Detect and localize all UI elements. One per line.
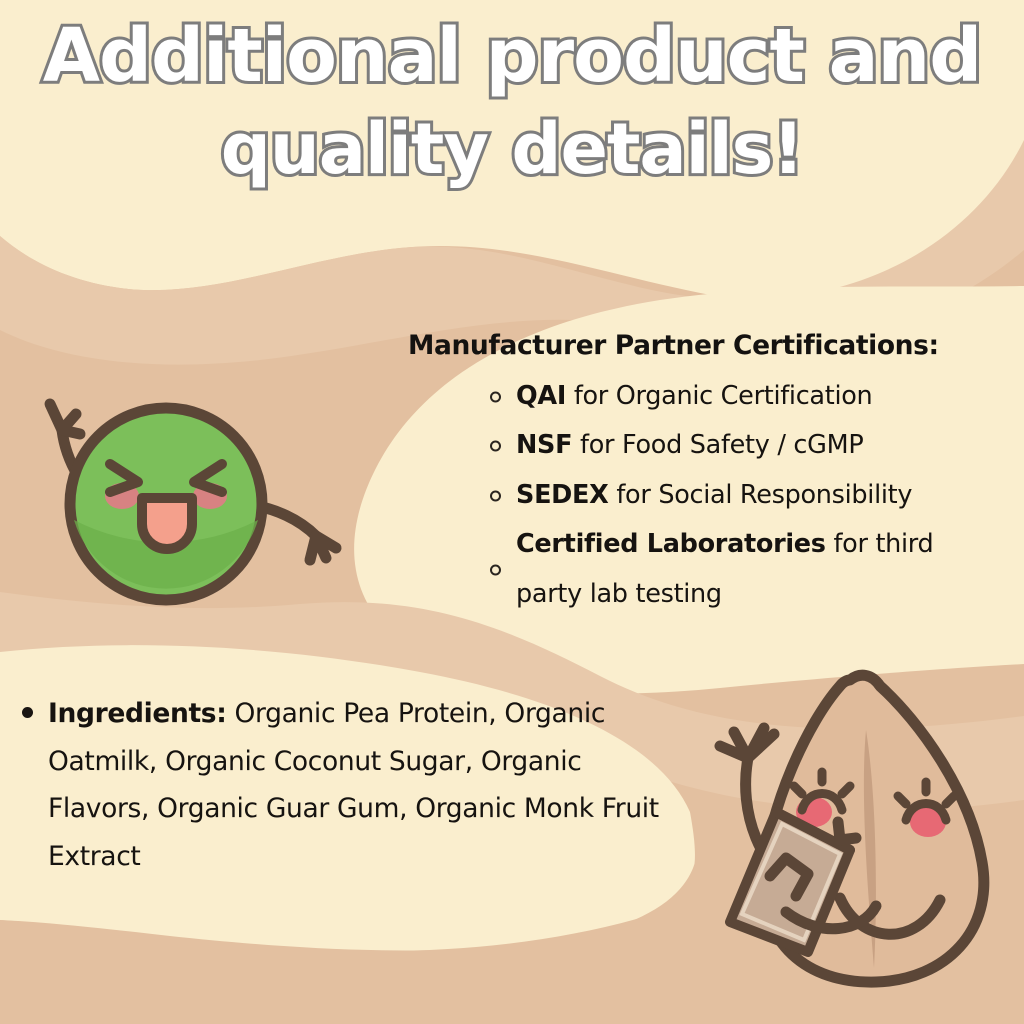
almond-left-hand bbox=[720, 728, 774, 758]
pea-left-hand bbox=[50, 404, 80, 434]
filled-disc-icon bbox=[22, 707, 33, 718]
certifications-block: Manufacturer Partner Certifications: QAI… bbox=[404, 330, 1004, 619]
ingredients-paragraph: Ingredients: Organic Pea Protein, Organi… bbox=[22, 690, 662, 881]
almond-mascot bbox=[690, 662, 1020, 1012]
hollow-circle-icon bbox=[490, 441, 501, 452]
cert-name: NSF bbox=[516, 430, 572, 460]
cert-name: Certified Laboratories bbox=[516, 529, 826, 559]
ingredients-block: Ingredients: Organic Pea Protein, Organi… bbox=[22, 690, 662, 881]
pea-right-hand bbox=[310, 536, 336, 560]
cert-name: QAI bbox=[516, 381, 566, 411]
certifications-list: QAI for Organic Certification NSF for Fo… bbox=[404, 372, 1004, 619]
list-item: Certified Laboratories for third party l… bbox=[404, 520, 1004, 619]
list-item: NSF for Food Safety / cGMP bbox=[404, 421, 1004, 470]
cert-desc: for Social Responsibility bbox=[609, 480, 913, 510]
certifications-heading: Manufacturer Partner Certifications: bbox=[408, 330, 1004, 361]
cert-name: SEDEX bbox=[516, 480, 609, 510]
pea-mouth bbox=[142, 498, 192, 549]
ingredients-label: Ingredients: bbox=[48, 698, 226, 729]
hollow-circle-icon bbox=[490, 391, 501, 402]
pea-mascot bbox=[14, 352, 354, 612]
cert-desc: for Organic Certification bbox=[566, 381, 872, 411]
cert-desc: for third bbox=[826, 529, 934, 559]
list-item: SEDEX for Social Responsibility bbox=[404, 471, 1004, 520]
hollow-circle-icon bbox=[490, 564, 501, 575]
poster-canvas: Additional product and quality details! bbox=[0, 0, 1024, 1024]
cert-desc-continuation: party lab testing bbox=[516, 570, 1004, 619]
cert-desc: for Food Safety / cGMP bbox=[572, 430, 863, 460]
hollow-circle-icon bbox=[490, 490, 501, 501]
list-item: QAI for Organic Certification bbox=[404, 372, 1004, 421]
